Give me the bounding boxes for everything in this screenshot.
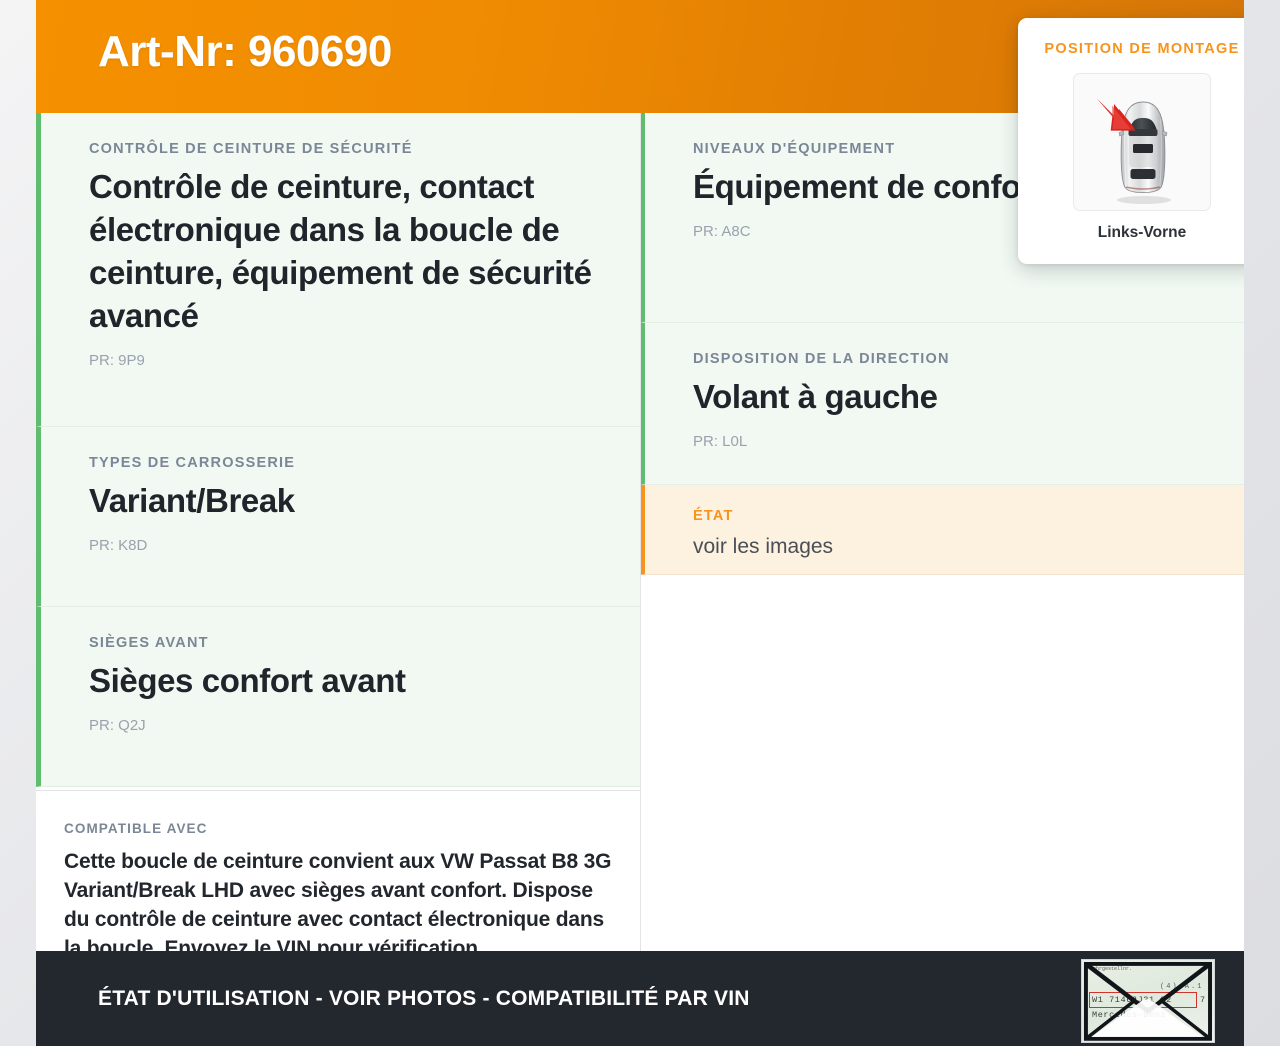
spec-card-pr-code: PR: 9P9	[89, 352, 600, 369]
spec-card-condition[interactable]: ÉTAT voir les images	[640, 485, 1244, 575]
compatibility-text: Cette boucle de ceinture convient aux VW…	[64, 848, 612, 964]
vin-document-badge[interactable]: Fahrgestellnr. (4) A.1 W1 71463J31 92 7 …	[1081, 959, 1215, 1043]
spec-card-value: Contrôle de ceinture, contact électroniq…	[89, 166, 600, 338]
spec-card-body-type[interactable]: TYPES DE CARROSSERIE Variant/Break PR: K…	[36, 427, 640, 607]
footer-notice: ÉTAT D'UTILISATION - VOIR PHOTOS - COMPA…	[98, 987, 750, 1011]
page-footer: ÉTAT D'UTILISATION - VOIR PHOTOS - COMPA…	[36, 951, 1244, 1046]
spec-card-pr-code: PR: K8D	[89, 537, 600, 554]
mounting-position-caption: Links-Vorne	[1018, 224, 1244, 242]
envelope-icon	[1082, 960, 1214, 1043]
column-divider	[640, 113, 641, 951]
product-spec-page: Art-Nr: 960690 CONTRÔLE DE CEINTURE DE S…	[36, 0, 1244, 1046]
compatibility-label: COMPATIBLE AVEC	[64, 821, 612, 836]
mounting-position-figure	[1073, 73, 1211, 211]
spec-card-label: SIÈGES AVANT	[89, 635, 600, 651]
red-arrow-down-right-icon	[1094, 94, 1144, 144]
spec-card-steering-layout[interactable]: DISPOSITION DE LA DIRECTION Volant à gau…	[640, 323, 1244, 485]
spec-card-pr-code: PR: L0L	[693, 433, 1204, 450]
spec-card-pr-code: PR: Q2J	[89, 717, 600, 734]
spec-card-label: CONTRÔLE DE CEINTURE DE SÉCURITÉ	[89, 141, 600, 157]
spec-card-value: voir les images	[693, 533, 1204, 560]
spec-card-front-seats[interactable]: SIÈGES AVANT Sièges confort avant PR: Q2…	[36, 607, 640, 787]
spec-card-value: Sièges confort avant	[89, 660, 600, 703]
mounting-position-popup[interactable]: POSITION DE MONTAGE	[1018, 18, 1244, 264]
mounting-position-title: POSITION DE MONTAGE	[1018, 41, 1244, 57]
spec-card-label: ÉTAT	[693, 508, 1204, 524]
page-title: Art-Nr: 960690	[98, 27, 392, 77]
spec-card-value: Variant/Break	[89, 480, 600, 523]
spec-card-label: TYPES DE CARROSSERIE	[89, 455, 600, 471]
spec-card-seatbelt-control[interactable]: CONTRÔLE DE CEINTURE DE SÉCURITÉ Contrôl…	[36, 113, 640, 427]
spec-card-value: Volant à gauche	[693, 376, 1204, 419]
spec-card-label: DISPOSITION DE LA DIRECTION	[693, 351, 1204, 367]
